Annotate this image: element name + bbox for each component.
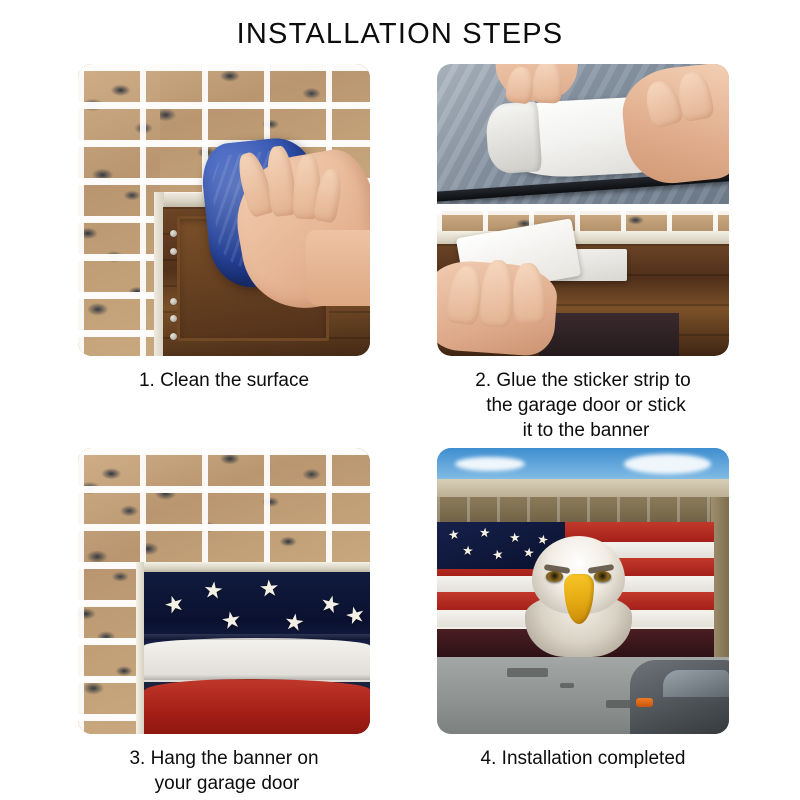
step-4-photo: ★ ★ ★ ★ ★ ★ ★ ★: [437, 448, 729, 734]
step-card-1: 1. Clean the surface: [78, 64, 370, 393]
step-2-caption: 2. Glue the sticker strip to the garage …: [437, 368, 729, 443]
car-taillight: [636, 698, 653, 707]
driveway-stain: [507, 668, 548, 677]
flag-red-stripe: [144, 679, 370, 734]
finger: [533, 64, 564, 104]
american-flag-banner: ★ ★ ★ ★ ★ ★ ★: [144, 572, 370, 734]
flag-star-icon: ★: [283, 610, 307, 636]
flag-fold: [144, 634, 370, 640]
step-2-photo: [437, 64, 729, 356]
flag-star-icon: ★: [219, 608, 243, 634]
eagle-flag-banner: ★ ★ ★ ★ ★ ★ ★ ★: [437, 522, 714, 659]
door-trim-vertical: [136, 562, 144, 734]
flag-star-icon: ★: [202, 578, 225, 603]
caption-line: the garage door or stick: [437, 393, 729, 418]
step-1-photo: [78, 64, 370, 356]
adhesive-strip-backing: [484, 101, 541, 174]
step-3-photo: ★ ★ ★ ★ ★ ★ ★: [78, 448, 370, 734]
flag-star-icon: ★: [462, 544, 475, 558]
brick-wall-above-door: [437, 497, 729, 526]
step-1-caption: 1. Clean the surface: [78, 368, 370, 393]
door-screw-icon: [170, 248, 177, 255]
caption-line: 2. Glue the sticker strip to: [437, 368, 729, 393]
door-screw-icon: [170, 298, 177, 305]
caption-line: it to the banner: [437, 418, 729, 443]
step-2-photo-top: [437, 64, 729, 204]
flag-fold: [144, 674, 370, 680]
installation-steps-infographic: INSTALLATION STEPS: [0, 0, 800, 800]
step-4-caption: 4. Installation completed: [437, 746, 729, 771]
driveway-stain: [606, 700, 632, 709]
brick-wall-left: [78, 64, 160, 356]
parked-car: [630, 660, 729, 734]
caption-line: 3. Hang the banner on: [78, 746, 370, 771]
step-3-caption: 3. Hang the banner on your garage door: [78, 746, 370, 796]
flag-star-icon: ★: [447, 527, 461, 542]
door-trim-horizontal: [136, 562, 370, 572]
brick-wall-left: [78, 448, 142, 734]
bald-eagle: [520, 531, 637, 657]
wrist: [306, 230, 370, 306]
steps-grid: 1. Clean the surface: [0, 0, 800, 800]
cloud: [624, 454, 712, 474]
step-card-3: ★ ★ ★ ★ ★ ★ ★ 3. Hang the banner on your…: [78, 448, 370, 796]
step-card-4: ★ ★ ★ ★ ★ ★ ★ ★: [437, 448, 729, 771]
caption-line: your garage door: [78, 771, 370, 796]
door-screw-icon: [170, 333, 177, 340]
driveway-stain: [560, 683, 575, 689]
step-card-2: 2. Glue the sticker strip to the garage …: [437, 64, 729, 443]
flag-star-icon: ★: [478, 526, 491, 540]
flag-star-icon: ★: [491, 547, 505, 562]
caption-line: 4. Installation completed: [437, 746, 729, 771]
caption-line: 1. Clean the surface: [78, 368, 370, 393]
car-window: [663, 670, 728, 697]
cloud: [455, 457, 525, 471]
flag-star-icon: ★: [258, 576, 280, 600]
step-2-photo-bottom: [437, 211, 729, 356]
garage-door-shadow: [539, 313, 679, 357]
